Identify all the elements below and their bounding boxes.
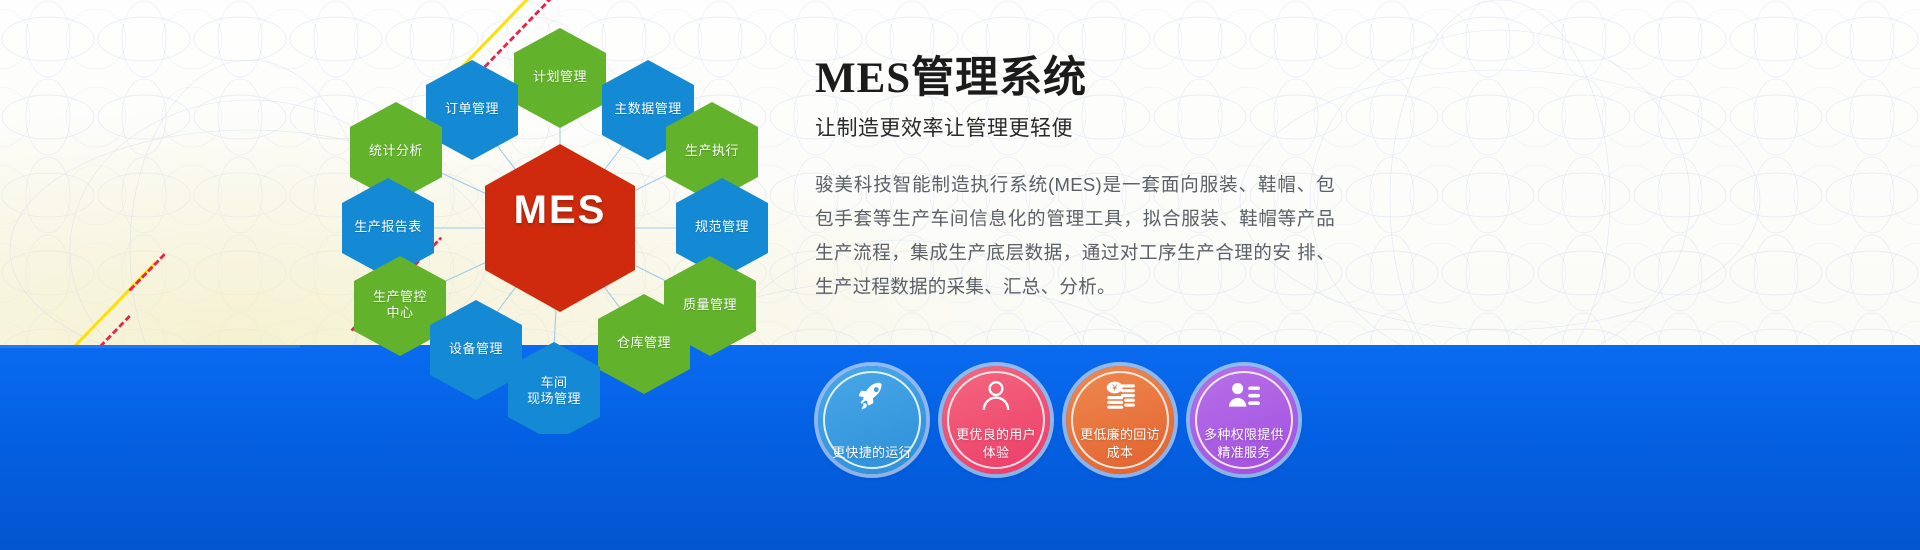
badge-label-speed: 更快捷的运行	[824, 444, 920, 462]
badge-speed[interactable]: 更快捷的运行	[818, 366, 926, 474]
page-subtitle: 让制造更效率让管理更轻便	[815, 112, 1335, 142]
badge-label-cost: 更低廉的回访成本	[1072, 426, 1168, 462]
copy-block: MES管理系统 让制造更效率让管理更轻便 骏美科技智能制造执行系统(MES)是一…	[815, 56, 1335, 304]
badge-ux[interactable]: 更优良的用户体验	[942, 366, 1050, 474]
feature-badges: 更快捷的运行更优良的用户体验¥更低廉的回访成本多种权限提供精准服务	[818, 366, 1298, 474]
page-description: 骏美科技智能制造执行系统(MES)是一套面向服装、鞋帽、包包手套等生产车间信息化…	[815, 168, 1335, 304]
svg-text:¥: ¥	[1111, 383, 1117, 393]
band-highlight	[0, 345, 300, 348]
mes-banner: 计划管理订单管理主数据管理统计分析生产执行生产报告表规范管理生产管控中心质量管理…	[0, 0, 1920, 550]
badge-label-ux: 更优良的用户体验	[948, 426, 1044, 462]
rocket-icon	[855, 379, 889, 413]
coins-icon: ¥	[1103, 379, 1137, 413]
user-icon	[979, 379, 1013, 413]
badge-cost[interactable]: ¥更低廉的回访成本	[1066, 366, 1174, 474]
accent-line-red-4	[128, 253, 166, 292]
hex-node-plan[interactable]	[514, 28, 606, 128]
badge-label-permits: 多种权限提供精准服务	[1196, 426, 1292, 462]
hex-diagram: 计划管理订单管理主数据管理统计分析生产执行生产报告表规范管理生产管控中心质量管理…	[330, 14, 790, 434]
accent-line-red-2	[545, 0, 596, 2]
page-title: MES管理系统	[815, 56, 1335, 102]
hex-nodes	[342, 28, 768, 434]
badge-permits[interactable]: 多种权限提供精准服务	[1190, 366, 1298, 474]
hex-core[interactable]	[485, 144, 635, 312]
userlist-icon	[1227, 379, 1261, 413]
